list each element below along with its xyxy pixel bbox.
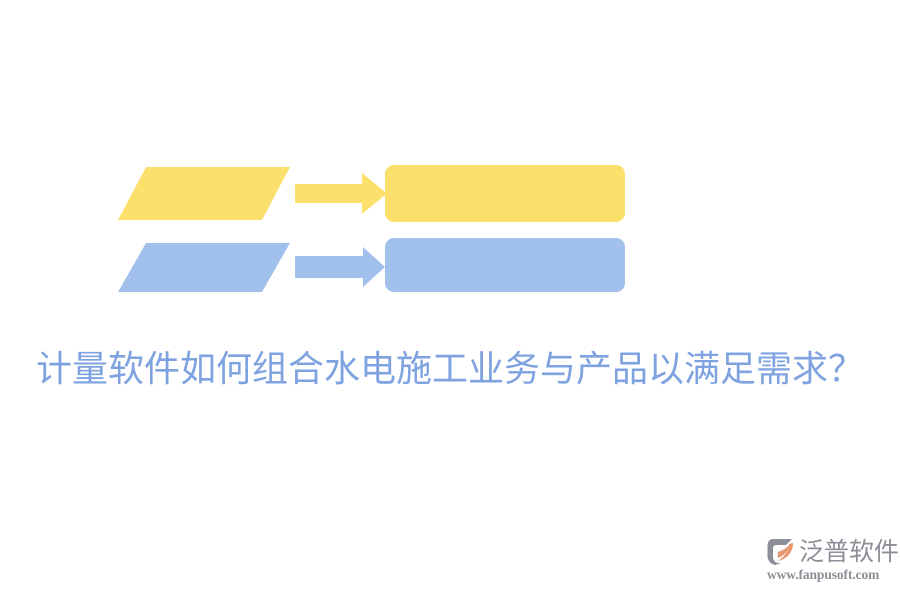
blue-rounded-rectangle[interactable] (385, 238, 625, 292)
brand-name: 泛普软件 (799, 537, 899, 567)
fanpu-logo-icon (766, 537, 796, 567)
blue-parallelogram[interactable] (118, 243, 290, 292)
blue-row (118, 238, 625, 292)
page-root: 计量软件如何组合水电施工业务与产品以满足需求？ 泛普软件 www.fanpuso… (0, 0, 900, 600)
brand-row: 泛普软件 (766, 534, 899, 570)
yellow-arrow-icon (295, 173, 387, 214)
yellow-row (118, 165, 625, 222)
page-title: 计量软件如何组合水电施工业务与产品以满足需求？ (0, 338, 900, 402)
yellow-parallelogram[interactable] (118, 167, 290, 220)
blue-arrow-icon (295, 247, 385, 287)
diagram-canvas (0, 0, 900, 330)
yellow-rounded-rectangle[interactable] (385, 165, 625, 222)
process-flow-diagram (0, 0, 900, 330)
brand-url: www.fanpusoft.com (767, 567, 895, 583)
brand-watermark: 泛普软件 www.fanpusoft.com (766, 534, 894, 586)
